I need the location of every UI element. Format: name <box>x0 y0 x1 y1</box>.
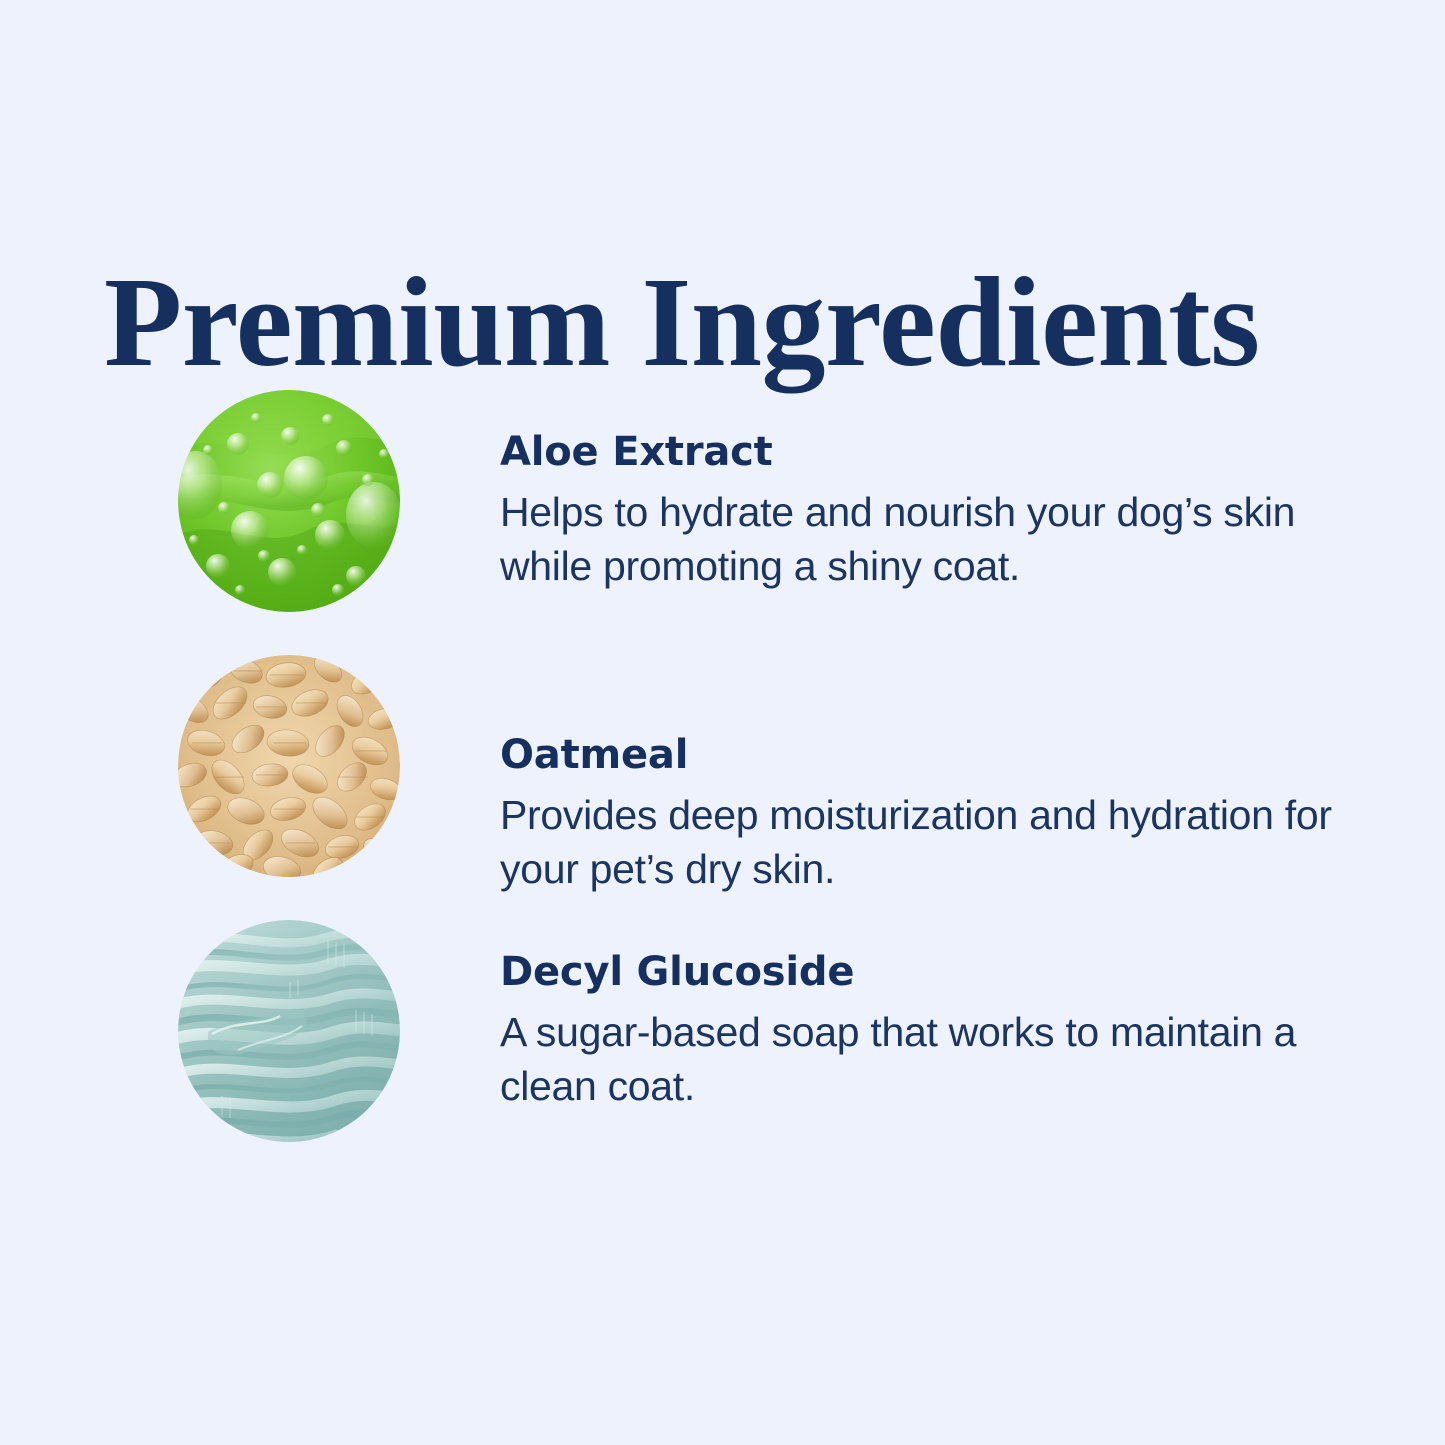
aloe-leaf-with-water-droplets-photo <box>178 390 400 612</box>
ingredient-name: Aloe Extract <box>500 430 1380 476</box>
teal-gel-texture-photo <box>178 920 400 1142</box>
page-title: Premium Ingredients <box>104 258 1344 386</box>
ingredient-name: Decyl Glucoside <box>500 950 1380 996</box>
ingredient-description: Provides deep moisturization and hydrati… <box>500 788 1370 896</box>
list-item: Oatmeal Provides deep moisturization and… <box>0 655 1445 920</box>
list-item: Decyl Glucoside A sugar-based soap that … <box>0 920 1445 1185</box>
ingredient-copy: Aloe Extract Helps to hydrate and nouris… <box>500 390 1380 593</box>
list-item: Aloe Extract Helps to hydrate and nouris… <box>0 390 1445 655</box>
ingredient-description: Helps to hydrate and nourish your dog’s … <box>500 485 1370 593</box>
premium-ingredients-panel: Premium Ingredients <box>0 0 1445 1445</box>
ingredient-list: Aloe Extract Helps to hydrate and nouris… <box>0 390 1445 1185</box>
rolled-oats-photo <box>178 655 400 877</box>
ingredient-copy: Oatmeal Provides deep moisturization and… <box>500 655 1380 896</box>
ingredient-copy: Decyl Glucoside A sugar-based soap that … <box>500 920 1380 1113</box>
ingredient-description: A sugar-based soap that works to maintai… <box>500 1005 1370 1113</box>
ingredient-name: Oatmeal <box>500 733 1380 779</box>
